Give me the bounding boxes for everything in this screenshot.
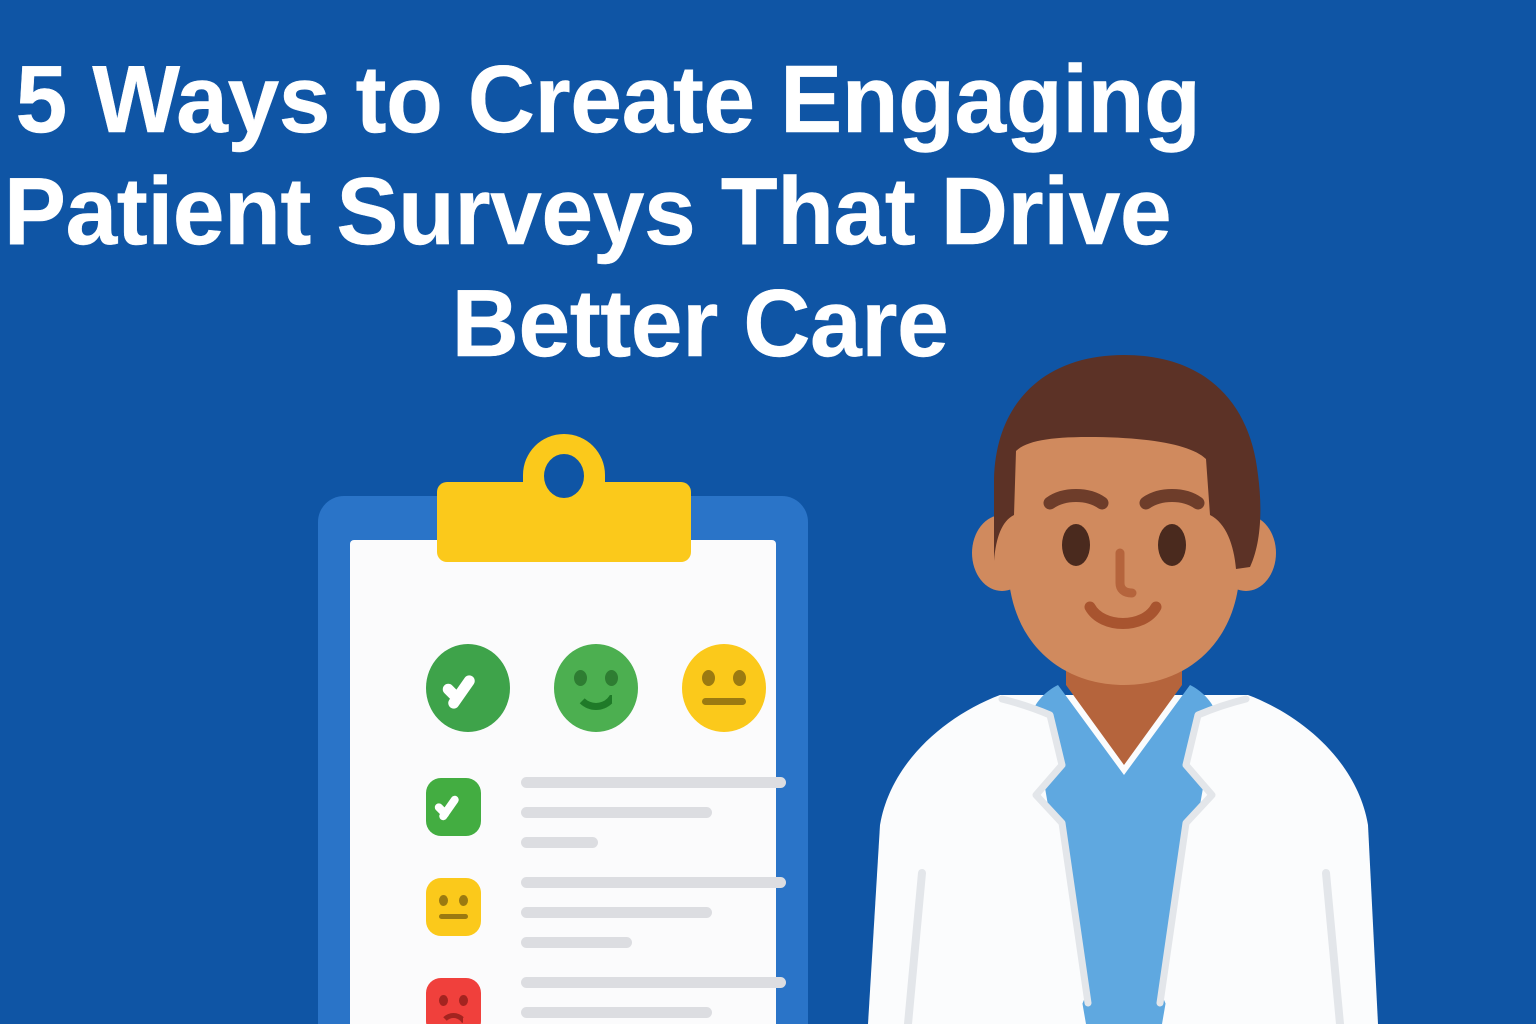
check-mark-icon [447,670,491,694]
placeholder-lines [521,874,786,967]
eyebrow-right [1146,496,1198,504]
survey-rows [426,774,786,1024]
sad-eye-left-icon [439,995,448,1006]
survey-row [426,974,786,1024]
eye-right [1158,524,1186,566]
smiley-face-circle-icon [554,644,638,732]
survey-row [426,874,786,974]
doctor-figure [850,355,1410,1024]
hero-banner: 5 Ways to Create Engaging Patient Survey… [0,0,1536,1024]
placeholder-line [521,907,712,918]
clipboard-illustration [318,496,808,1024]
smile-mouth-icon [573,686,619,710]
neutral-face-circle-icon [682,644,766,732]
placeholder-line [521,837,598,848]
placeholder-lines [521,974,786,1024]
neutral-mouth-icon [702,698,746,705]
neutral-eye-right-icon [733,670,746,686]
eye-left [1062,524,1090,566]
frown-mouth-icon [439,1013,468,1024]
smiley-eye-right-icon [605,670,618,686]
eyebrow-left [1050,496,1102,504]
neutral-mouth-icon [439,914,468,919]
placeholder-line [521,937,632,948]
placeholder-line [521,977,786,988]
placeholder-lines [521,774,786,867]
placeholder-line [521,807,712,818]
neutral-face-square-icon [426,878,481,936]
sad-face-square-icon [426,978,481,1024]
check-square-icon [426,778,481,836]
doctor-illustration [850,355,1410,1024]
placeholder-line [521,877,786,888]
title-line-1: 5 Ways to Create Engaging [0,44,1358,156]
placeholder-line [521,777,786,788]
placeholder-line [521,1007,712,1018]
check-circle-icon [426,644,510,732]
clipboard-paper [350,540,776,1024]
title-line-2: Patient Surveys That Drive [0,156,1358,268]
sad-eye-right-icon [459,995,468,1006]
check-mark-icon [438,792,468,810]
page-title: 5 Ways to Create Engaging Patient Survey… [0,44,1400,380]
survey-row [426,774,786,874]
rating-icon-row [426,642,766,734]
neutral-eye-right-icon [459,895,468,906]
neutral-eye-left-icon [702,670,715,686]
clipboard-clip-hole [544,454,584,498]
neutral-eye-left-icon [439,895,448,906]
smiley-eye-left-icon [574,670,587,686]
